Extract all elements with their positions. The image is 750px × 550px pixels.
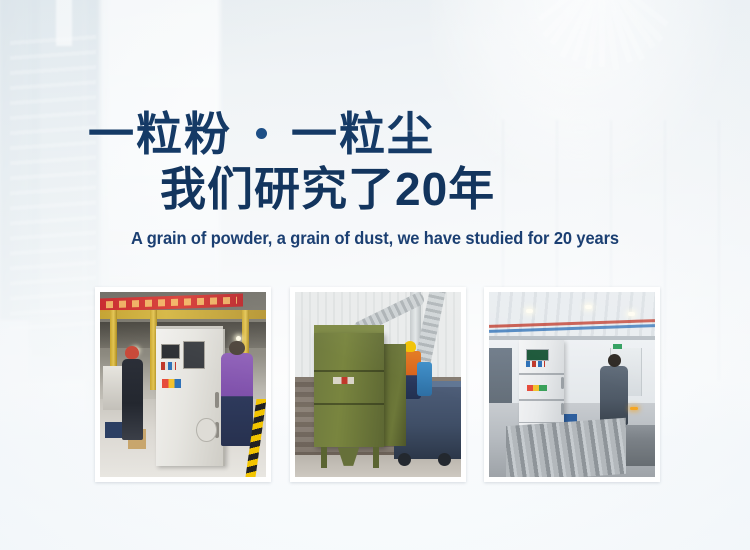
p1-blue-crate [105, 422, 123, 439]
p3-steel-bars [506, 417, 626, 477]
headline-separator-dot [256, 128, 267, 139]
headline-line-1: 一粒粉一粒尘 [88, 108, 435, 160]
p3-door-handle-lower [561, 403, 564, 415]
headline-line-1-right: 一粒尘 [291, 108, 435, 160]
p3-control-display [526, 349, 550, 360]
p3-weld-spark [630, 407, 638, 410]
headline-line-1-left: 一粒粉 [88, 108, 232, 160]
p2-lift-wheel-right [438, 453, 451, 466]
gallery-item-2[interactable] [290, 287, 466, 482]
p3-exit-sign [613, 344, 622, 349]
headline-subtitle: A grain of powder, a grain of dust, we h… [23, 228, 728, 249]
p1-control-display [161, 344, 180, 359]
p2-dust-collector-green [314, 333, 384, 448]
p2-unit-seam-lower [314, 403, 384, 405]
background-shelving-stripes [10, 30, 96, 330]
promo-banner: 一粒粉一粒尘 我们研究了20年 A grain of powder, a gra… [0, 0, 750, 550]
p1-worker-right [221, 353, 253, 446]
photo-industrial-dust-collector-green-unit [295, 292, 461, 477]
p3-cabinet-seam-2 [519, 399, 564, 401]
background-ceiling-fan [440, 0, 750, 162]
p3-brand-label [527, 385, 547, 391]
background-ceiling-glow [430, 0, 730, 180]
photo-gallery [95, 287, 660, 482]
p2-leg-right [373, 447, 379, 467]
p1-inverter-box [183, 341, 205, 369]
gallery-item-3[interactable] [484, 287, 660, 482]
headline-line-2: 我们研究了20年 [160, 163, 495, 215]
p2-unit-seam-upper [314, 370, 384, 372]
p1-button-row [161, 362, 176, 369]
background-column-left [0, 0, 40, 320]
background-column-mid [28, 0, 86, 380]
background-wall-highlight [56, 0, 72, 46]
gallery-item-1[interactable] [95, 287, 271, 482]
p1-brand-label [162, 379, 180, 388]
p2-technician-second [417, 362, 432, 395]
p1-access-hatch [196, 418, 216, 442]
p3-ceiling [489, 292, 655, 340]
p3-button-row [526, 361, 546, 367]
p2-nameplate [333, 377, 355, 384]
photo-industrial-dust-collector-white-cabinet [100, 292, 266, 477]
photo-industrial-dust-collector-workshop [489, 292, 655, 477]
p3-light-a [526, 309, 533, 313]
p3-light-b [585, 305, 592, 309]
p2-lift-wheel-left [398, 453, 411, 466]
p2-leg-left [321, 447, 327, 467]
p3-door-handle-upper [561, 377, 564, 389]
p1-door-handle-upper [215, 392, 219, 408]
p3-worker [600, 366, 628, 425]
p1-worker-left [122, 359, 144, 440]
p2-fan-housing [381, 344, 406, 446]
p3-cabinet-seam-1 [519, 373, 564, 375]
p1-yellow-beam [100, 310, 266, 319]
